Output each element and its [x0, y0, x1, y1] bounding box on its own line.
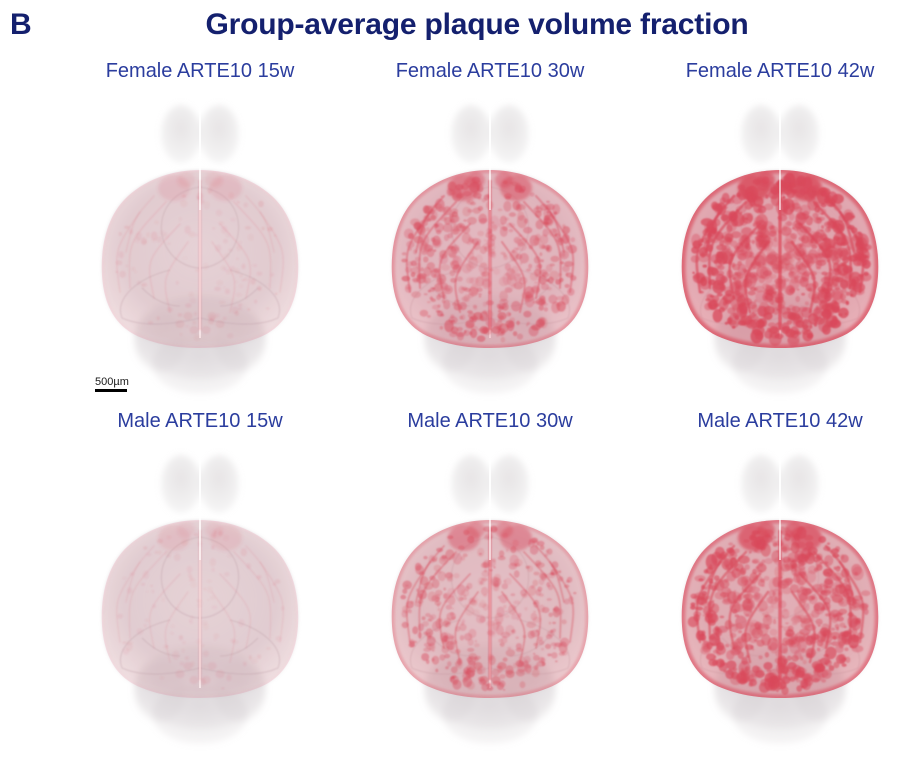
- brain-panel-label-female-30w: Female ARTE10 30w: [345, 60, 635, 83]
- scale-bar-label: 500µm: [95, 376, 165, 388]
- midline-highlight: [199, 106, 200, 210]
- scale-bar: 500µm: [95, 376, 165, 392]
- brain-image-male-15w: [55, 442, 345, 758]
- brain-panel-female-15w: Female ARTE10 15w500µm: [55, 58, 345, 408]
- brain-render-male-42w: [635, 442, 914, 758]
- midline-highlight: [779, 106, 780, 210]
- brain-image-female-30w: [345, 92, 635, 408]
- brain-panel-label-female-42w: Female ARTE10 42w: [635, 60, 914, 83]
- brain-render-male-15w: [55, 442, 345, 758]
- midline-highlight: [199, 456, 200, 560]
- brain-panel-label-male-42w: Male ARTE10 42w: [635, 410, 914, 433]
- midline-highlight: [489, 106, 490, 210]
- brain-render-female-30w: [345, 92, 635, 408]
- brain-panel-female-42w: Female ARTE10 42w: [635, 58, 914, 408]
- brain-render-female-42w: [635, 92, 914, 408]
- page-title: Group-average plaque volume fraction: [0, 8, 914, 42]
- brain-image-male-42w: [635, 442, 914, 758]
- brain-panel-male-30w: Male ARTE10 30w: [345, 408, 635, 758]
- scale-bar-line: [95, 389, 127, 392]
- midline-highlight: [779, 456, 780, 560]
- brain-image-grid: Female ARTE10 15w500µmFemale ARTE10 30wF…: [0, 58, 914, 758]
- brain-render-male-30w: [345, 442, 635, 758]
- brain-panel-label-male-15w: Male ARTE10 15w: [55, 410, 345, 433]
- brain-image-male-30w: [345, 442, 635, 758]
- brain-panel-male-42w: Male ARTE10 42w: [635, 408, 914, 758]
- brain-panel-label-female-15w: Female ARTE10 15w: [55, 60, 345, 83]
- brain-panel-male-15w: Male ARTE10 15w: [55, 408, 345, 758]
- brain-image-female-42w: [635, 92, 914, 408]
- midline-highlight: [489, 456, 490, 560]
- figure-panel-b: B Group-average plaque volume fraction F…: [0, 0, 914, 758]
- brain-panel-label-male-30w: Male ARTE10 30w: [345, 410, 635, 433]
- brain-render-female-15w: [55, 92, 345, 408]
- brain-image-female-15w: [55, 92, 345, 408]
- brain-panel-female-30w: Female ARTE10 30w: [345, 58, 635, 408]
